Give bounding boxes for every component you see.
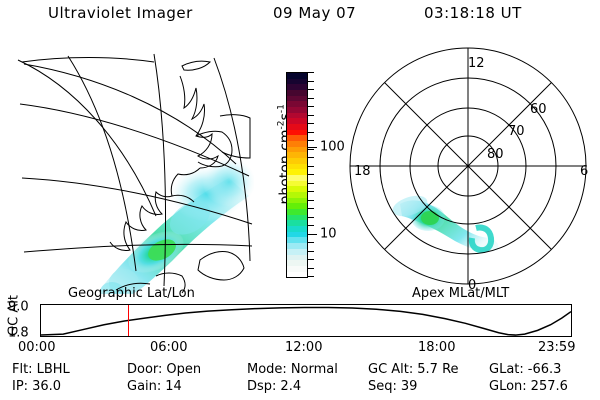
colorbar-minor-tick bbox=[308, 106, 314, 107]
colorbar-major-tick bbox=[308, 234, 317, 235]
metadata-value: LBHL bbox=[37, 362, 70, 377]
mlat-label-80: 80 bbox=[487, 147, 504, 162]
mlt-label-6: 6 bbox=[580, 164, 588, 179]
colorbar-minor-tick bbox=[308, 157, 314, 158]
colorbar-minor-tick bbox=[308, 174, 314, 175]
colorbar-minor-tick bbox=[308, 140, 314, 141]
colorbar-minor-tick bbox=[308, 132, 314, 133]
metadata-key: Gain: bbox=[127, 379, 161, 394]
metadata-value: Normal bbox=[291, 362, 338, 377]
metadata-value: 14 bbox=[165, 379, 182, 394]
metadata-mode: Mode:Normal bbox=[247, 362, 338, 377]
colorbar-minor-tick bbox=[308, 123, 314, 124]
orbit-plot-frame bbox=[40, 304, 572, 337]
colorbar-minor-tick bbox=[308, 72, 314, 73]
orbit-xtick-label: 18:00 bbox=[418, 340, 455, 355]
observation-time: 03:18:18 UT bbox=[424, 4, 522, 22]
metadata-row: IP:36.0Gain:14Dsp:2.4Seq:39GLon:257.6 bbox=[0, 379, 600, 396]
metadata-value: -66.3 bbox=[528, 362, 562, 377]
status-metadata: Flt:LBHLDoor:OpenMode:NormalGC Alt:5.7 R… bbox=[0, 362, 600, 400]
metadata-seq: Seq:39 bbox=[368, 379, 417, 394]
geographic-panel-title: Geographic Lat/Lon bbox=[68, 286, 195, 301]
metadata-key: Flt: bbox=[12, 362, 33, 377]
colorbar-minor-tick bbox=[308, 81, 314, 82]
metadata-glat: GLat:-66.3 bbox=[489, 362, 561, 377]
polar-dial bbox=[348, 46, 596, 294]
colorbar-minor-tick bbox=[308, 89, 314, 90]
observation-date: 09 May 07 bbox=[273, 4, 356, 22]
colorbar-minor-tick bbox=[308, 149, 314, 150]
colorbar-minor-tick bbox=[308, 217, 314, 218]
mlt-label-18: 18 bbox=[354, 164, 371, 179]
colorbar-minor-tick bbox=[308, 191, 314, 192]
orbit-xtick-label: 12:00 bbox=[285, 340, 322, 355]
metadata-dsp: Dsp:2.4 bbox=[247, 379, 301, 394]
geographic-image-panel[interactable] bbox=[4, 46, 254, 294]
metadata-door: Door:Open bbox=[127, 362, 201, 377]
orbit-xtick-label: 00:00 bbox=[18, 340, 55, 355]
mlat-label-60: 60 bbox=[530, 102, 547, 117]
mlat-label-70: 70 bbox=[508, 124, 525, 139]
metadata-ip: IP:36.0 bbox=[12, 379, 61, 394]
metadata-gc-alt: GC Alt:5.7 Re bbox=[368, 362, 459, 377]
metadata-key: Mode: bbox=[247, 362, 287, 377]
header: Ultraviolet Imager 09 May 07 03:18:18 UT bbox=[0, 4, 600, 30]
colorbar-minor-tick bbox=[308, 268, 314, 269]
metadata-value: 39 bbox=[401, 379, 418, 394]
polar-mlt-panel[interactable]: 121860 607080 bbox=[348, 46, 596, 294]
colorbar-tick-label: 100 bbox=[320, 140, 345, 155]
metadata-key: IP: bbox=[12, 379, 28, 394]
colorbar-minor-tick bbox=[308, 276, 314, 277]
metadata-key: Seq: bbox=[368, 379, 397, 394]
metadata-value: 5.7 Re bbox=[417, 362, 458, 377]
orbit-ytick-bottom: 1.8 bbox=[8, 326, 29, 341]
colorbar-minor-tick bbox=[308, 259, 314, 260]
metadata-key: Door: bbox=[127, 362, 162, 377]
polar-auroral-emission bbox=[390, 192, 498, 251]
colorbar-minor-tick bbox=[308, 98, 314, 99]
metadata-key: GC Alt: bbox=[368, 362, 413, 377]
metadata-key: Dsp: bbox=[247, 379, 276, 394]
colorbar-minor-tick bbox=[308, 225, 314, 226]
uvi-screenshot-root: Ultraviolet Imager 09 May 07 03:18:18 UT bbox=[0, 0, 600, 400]
colorbar-tick-label: 10 bbox=[320, 227, 337, 242]
colorbar-group: photon cm-2s-1 10010 bbox=[258, 60, 344, 292]
metadata-glon: GLon:257.6 bbox=[489, 379, 568, 394]
orbit-ytick-top: 9.0 bbox=[8, 300, 29, 315]
time-cursor[interactable] bbox=[128, 305, 129, 336]
metadata-value: Open bbox=[166, 362, 201, 377]
metadata-value: 2.4 bbox=[280, 379, 301, 394]
colorbar-band-35 bbox=[287, 272, 307, 278]
metadata-key: GLon: bbox=[489, 379, 527, 394]
colorbar-gradient bbox=[286, 72, 308, 278]
colorbar-minor-tick bbox=[308, 200, 314, 201]
metadata-flt: Flt:LBHL bbox=[12, 362, 70, 377]
colorbar-major-tick bbox=[308, 147, 317, 148]
metadata-value: 36.0 bbox=[32, 379, 61, 394]
orbit-xtick-label: 06:00 bbox=[150, 340, 187, 355]
colorbar-minor-tick bbox=[308, 251, 314, 252]
geographic-projection bbox=[4, 46, 254, 294]
polar-panel-title: Apex MLat/MLT bbox=[412, 286, 509, 301]
mlt-label-12: 12 bbox=[468, 56, 485, 71]
colorbar-minor-tick bbox=[308, 183, 314, 184]
instrument-title: Ultraviolet Imager bbox=[48, 4, 193, 22]
orbit-altitude-plot[interactable]: Geographic Lat/Lon Apex MLat/MLT GC Alt … bbox=[0, 296, 600, 356]
metadata-value: 257.6 bbox=[531, 379, 568, 394]
metadata-row: Flt:LBHLDoor:OpenMode:NormalGC Alt:5.7 R… bbox=[0, 362, 600, 379]
orbit-xtick-label: 23:59 bbox=[538, 340, 575, 355]
polar-mlt-spokes bbox=[350, 48, 586, 284]
metadata-key: GLat: bbox=[489, 362, 524, 377]
colorbar-minor-tick bbox=[308, 115, 314, 116]
colorbar-minor-tick bbox=[308, 166, 314, 167]
colorbar-minor-tick bbox=[308, 242, 314, 243]
orbit-altitude-curve bbox=[41, 305, 571, 336]
colorbar-minor-tick bbox=[308, 208, 314, 209]
metadata-gain: Gain:14 bbox=[127, 379, 182, 394]
